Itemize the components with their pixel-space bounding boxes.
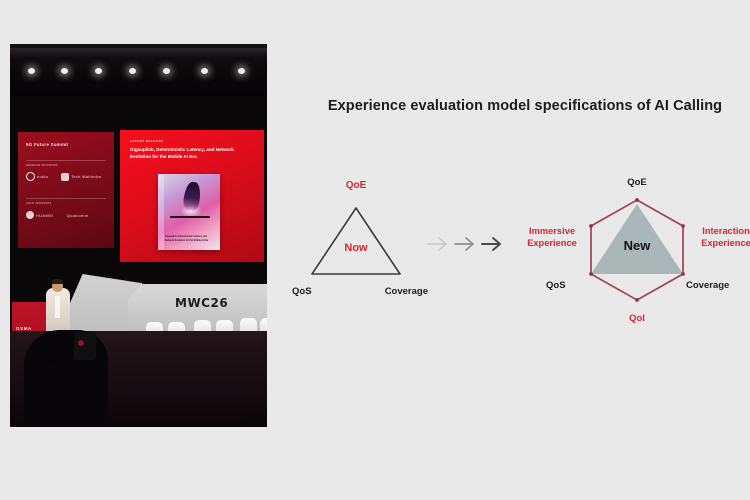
stage-light — [28, 68, 35, 74]
new-vertex-label-coverage: Coverage — [686, 280, 729, 291]
now-vertex-label-qoe: QoE — [286, 180, 426, 191]
huawei-logo-text: HUAWEI — [36, 213, 54, 218]
new-vertex-label-interaction-experience: Interaction Experience — [688, 226, 750, 249]
report-caption: Gigauplink, Deterministic Latency, and N… — [165, 236, 211, 243]
now-triangle-shape — [308, 204, 404, 278]
stage-light — [95, 68, 102, 74]
current-model-diagram: QoE Now QoS Coverage — [286, 180, 426, 312]
stage-light — [61, 68, 68, 74]
new-vertex-label-immersive-experience: Immersive Experience — [518, 226, 586, 249]
ceiling-region — [10, 44, 267, 96]
speaker-hair — [52, 279, 63, 284]
divider — [26, 198, 106, 199]
slide-title: Experience evaluation model specificatio… — [300, 98, 750, 114]
stage-light — [238, 68, 245, 74]
report-cover-image: Gigauplink, Deterministic Latency, and N… — [158, 174, 220, 250]
sponsor-logo-row-1: nokia Tech Mahindra — [26, 172, 101, 181]
tech-mahindra-logo: Tech Mahindra — [61, 173, 101, 181]
speaker-shirt — [55, 296, 60, 318]
new-center-label: New — [584, 238, 690, 253]
qualcomm-logo-text: Qualcomm — [67, 213, 89, 218]
now-center-label: Now — [286, 242, 426, 254]
led-screen-left: 5G Future Summit HEADLINE SPONSORS nokia… — [18, 132, 114, 248]
stage-light — [129, 68, 136, 74]
tech-mahindra-logo-text: Tech Mahindra — [71, 174, 101, 179]
sponsor-tier-label-1: HEADLINE SPONSORS — [26, 164, 58, 167]
mwc26-backdrop-text: MWC26 — [175, 296, 228, 310]
arrow-right-icon-dark — [480, 234, 506, 254]
nokia-logo-text: nokia — [37, 174, 48, 179]
arrow-sequence — [426, 228, 506, 260]
report-device-bar — [170, 216, 210, 218]
arrow-right-icon-light — [426, 234, 452, 254]
arrow-right-icon-medium — [453, 234, 479, 254]
led-screen-right: LATEST RELEASE Gigauplink, Deterministic… — [120, 130, 264, 262]
sponsor-logo-row-2: HUAWEI Qualcomm — [26, 211, 88, 219]
new-vertex-label-qos: QoS — [546, 280, 566, 291]
presentation-slide: Experience evaluation model specificatio… — [278, 0, 750, 500]
stage-light — [201, 68, 208, 74]
nokia-logo: nokia — [26, 172, 48, 181]
now-vertex-label-qos: QoS — [292, 286, 312, 297]
lighting-truss — [10, 48, 267, 58]
stage-light — [163, 68, 170, 74]
new-vertex-label-qoe: QoE — [584, 177, 690, 188]
release-kicker: LATEST RELEASE — [130, 139, 163, 143]
new-model-diagram: QoE Interaction Experience Coverage QoI … — [526, 176, 748, 326]
photographer-head — [42, 332, 74, 366]
sponsor-tier-label-2: GOLD SPONSORS — [26, 202, 51, 205]
release-headline: Gigauplink, Deterministic Latency, and N… — [130, 147, 254, 160]
now-vertex-label-coverage: Coverage — [385, 286, 428, 297]
huawei-logo: HUAWEI — [26, 211, 54, 219]
divider — [26, 160, 106, 161]
qualcomm-logo: Qualcomm — [67, 213, 89, 218]
camera-body — [74, 332, 96, 360]
summit-title: 5G Future Summit — [26, 142, 68, 147]
new-vertex-label-qoi: QoI — [584, 313, 690, 324]
mwc26-stage-photo: 5G Future Summit HEADLINE SPONSORS nokia… — [10, 44, 267, 427]
camera-indicator — [78, 340, 84, 346]
